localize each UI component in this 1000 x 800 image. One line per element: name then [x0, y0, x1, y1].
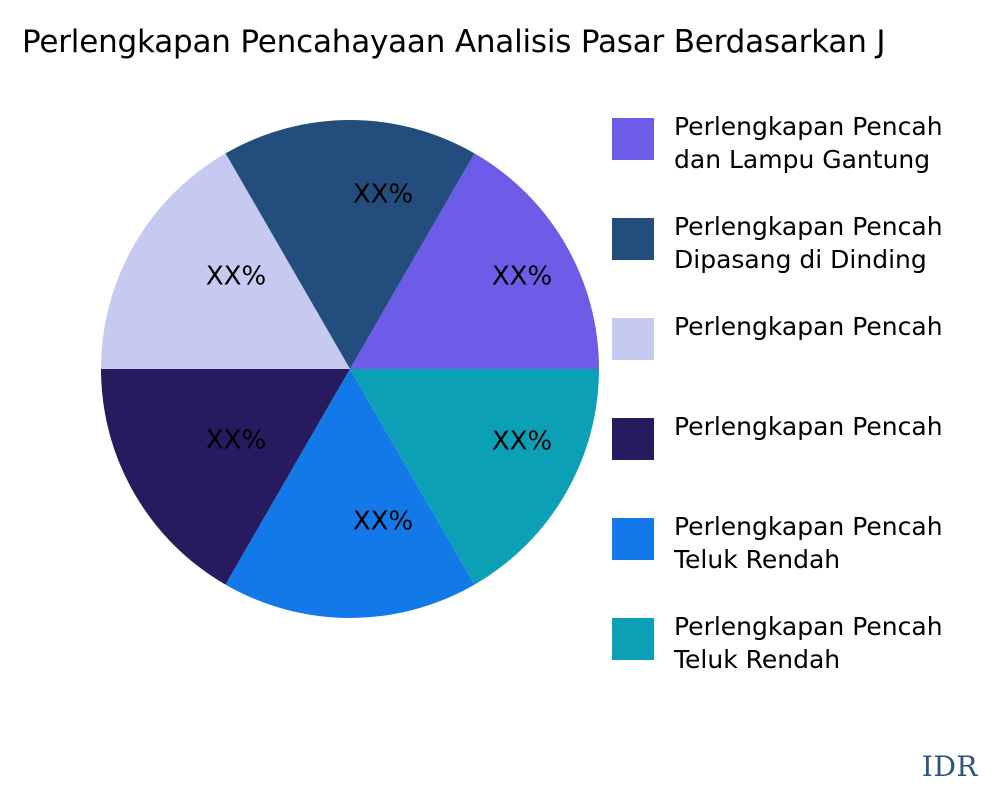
legend-item[interactable]: Perlengkapan Pencah Teluk Rendah — [612, 610, 1000, 710]
legend-swatch-navy — [612, 418, 654, 460]
legend-item[interactable]: Perlengkapan Pencah Dipasang di Dinding — [612, 210, 1000, 310]
legend-item-label: Perlengkapan Pencah Teluk Rendah — [674, 610, 1000, 676]
pie-slice-label: XX% — [353, 180, 413, 210]
legend-item-label: Perlengkapan Pencah Teluk Rendah — [674, 510, 1000, 576]
legend: Perlengkapan Pencah dan Lampu GantungPer… — [612, 110, 1000, 710]
legend-item-label: Perlengkapan Pencah — [674, 410, 1000, 443]
legend-item[interactable]: Perlengkapan Pencah — [612, 310, 1000, 410]
pie-slice-label: XX% — [492, 262, 552, 292]
legend-swatch-steel-blue — [612, 218, 654, 260]
pie-slice-label: XX% — [492, 427, 552, 457]
legend-swatch-lavender — [612, 318, 654, 360]
pie-slice-label: XX% — [353, 507, 413, 537]
legend-item-label: Perlengkapan Pencah dan Lampu Gantung — [674, 110, 1000, 176]
legend-swatch-bright-blue — [612, 518, 654, 560]
legend-item-label: Perlengkapan Pencah — [674, 310, 1000, 343]
chart-canvas: Perlengkapan Pencahayaan Analisis Pasar … — [0, 0, 1000, 800]
legend-swatch-teal — [612, 618, 654, 660]
legend-item[interactable]: Perlengkapan Pencah — [612, 410, 1000, 510]
pie-slice-label: XX% — [206, 262, 266, 292]
legend-swatch-purple — [612, 118, 654, 160]
legend-item[interactable]: Perlengkapan Pencah Teluk Rendah — [612, 510, 1000, 610]
legend-item[interactable]: Perlengkapan Pencah dan Lampu Gantung — [612, 110, 1000, 210]
legend-item-label: Perlengkapan Pencah Dipasang di Dinding — [674, 210, 1000, 276]
pie-slice-label: XX% — [206, 426, 266, 456]
currency-watermark: IDR — [922, 750, 978, 783]
pie-slice-group — [101, 120, 599, 618]
